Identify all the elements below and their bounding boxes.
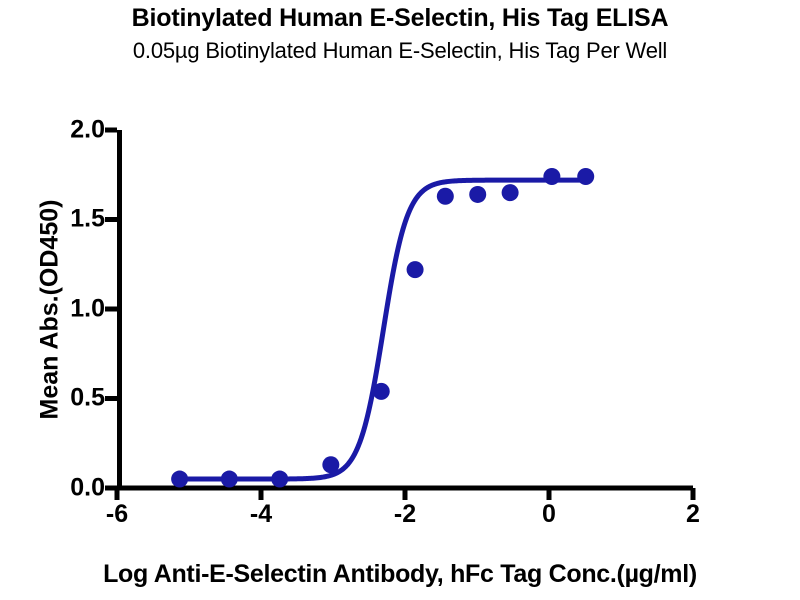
data-point xyxy=(373,383,390,400)
data-point xyxy=(171,471,188,488)
x-tick-label-1: -4 xyxy=(250,500,272,529)
data-point xyxy=(469,186,486,203)
data-point xyxy=(543,168,560,185)
x-axis-label: Log Anti-E-Selectin Antibody, hFc Tag Co… xyxy=(0,560,800,589)
fit-curve xyxy=(180,180,586,479)
chart-subtitle: 0.05µg Biotinylated Human E-Selectin, Hi… xyxy=(0,38,800,64)
y-tick-label-1: 0.5 xyxy=(45,384,105,413)
y-tick-label-4: 2.0 xyxy=(45,116,105,145)
x-tick-label-4: 2 xyxy=(686,500,700,529)
data-point xyxy=(437,188,454,205)
x-tick-label-3: 0 xyxy=(542,500,556,529)
y-tick-label-2: 1.0 xyxy=(45,295,105,324)
y-axis-ticks xyxy=(105,130,117,488)
data-point xyxy=(221,471,238,488)
data-point xyxy=(502,184,519,201)
x-tick-label-0: -6 xyxy=(106,500,128,529)
data-point xyxy=(577,168,594,185)
chart-figure: Biotinylated Human E-Selectin, His Tag E… xyxy=(0,0,800,600)
data-point xyxy=(407,261,424,278)
axes-group xyxy=(117,130,693,488)
chart-title: Biotinylated Human E-Selectin, His Tag E… xyxy=(0,4,800,33)
data-point xyxy=(322,456,339,473)
data-point xyxy=(271,471,288,488)
y-tick-label-3: 1.5 xyxy=(45,205,105,234)
y-tick-label-0: 0.0 xyxy=(45,474,105,503)
x-tick-label-2: -2 xyxy=(394,500,416,529)
